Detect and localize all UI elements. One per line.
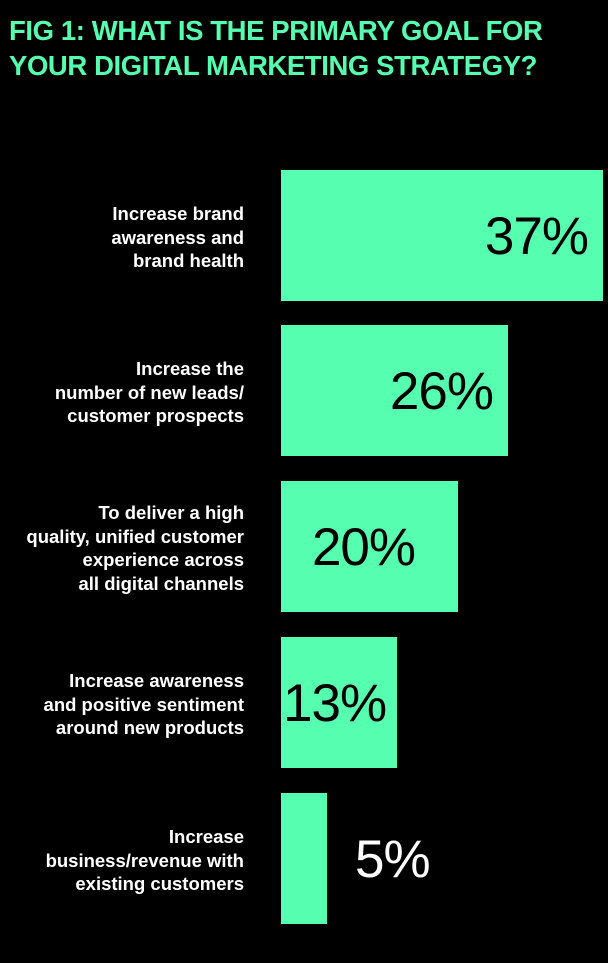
bar-row: Increase business/revenue with existing … [0,793,608,924]
bar-rect [281,793,327,924]
bar-value-label: 37% [281,210,588,263]
bar-value-label: 20% [281,521,446,574]
bar-value-label: 26% [281,365,493,418]
bar-row: Increase the number of new leads/ custom… [0,325,608,456]
bar-category-label: Increase the number of new leads/ custom… [0,357,244,428]
bar-row: Increase brand awareness and brand healt… [0,170,608,301]
bar-category-label: To deliver a high quality, unified custo… [0,501,244,595]
bar-category-label: Increase awareness and positive sentimen… [0,669,244,740]
bar-row: To deliver a high quality, unified custo… [0,481,608,612]
bar-chart-plot-area: Increase brand awareness and brand healt… [0,0,608,963]
figure-container: FIG 1: WHAT IS THE PRIMARY GOAL FOR YOUR… [0,0,608,963]
bar-value-label: 13% [283,677,386,730]
bar-value-label: 5% [355,833,430,886]
bar-row: Increase awareness and positive sentimen… [0,637,608,768]
bar-category-label: Increase brand awareness and brand healt… [0,202,244,273]
bar-category-label: Increase business/revenue with existing … [0,825,244,896]
